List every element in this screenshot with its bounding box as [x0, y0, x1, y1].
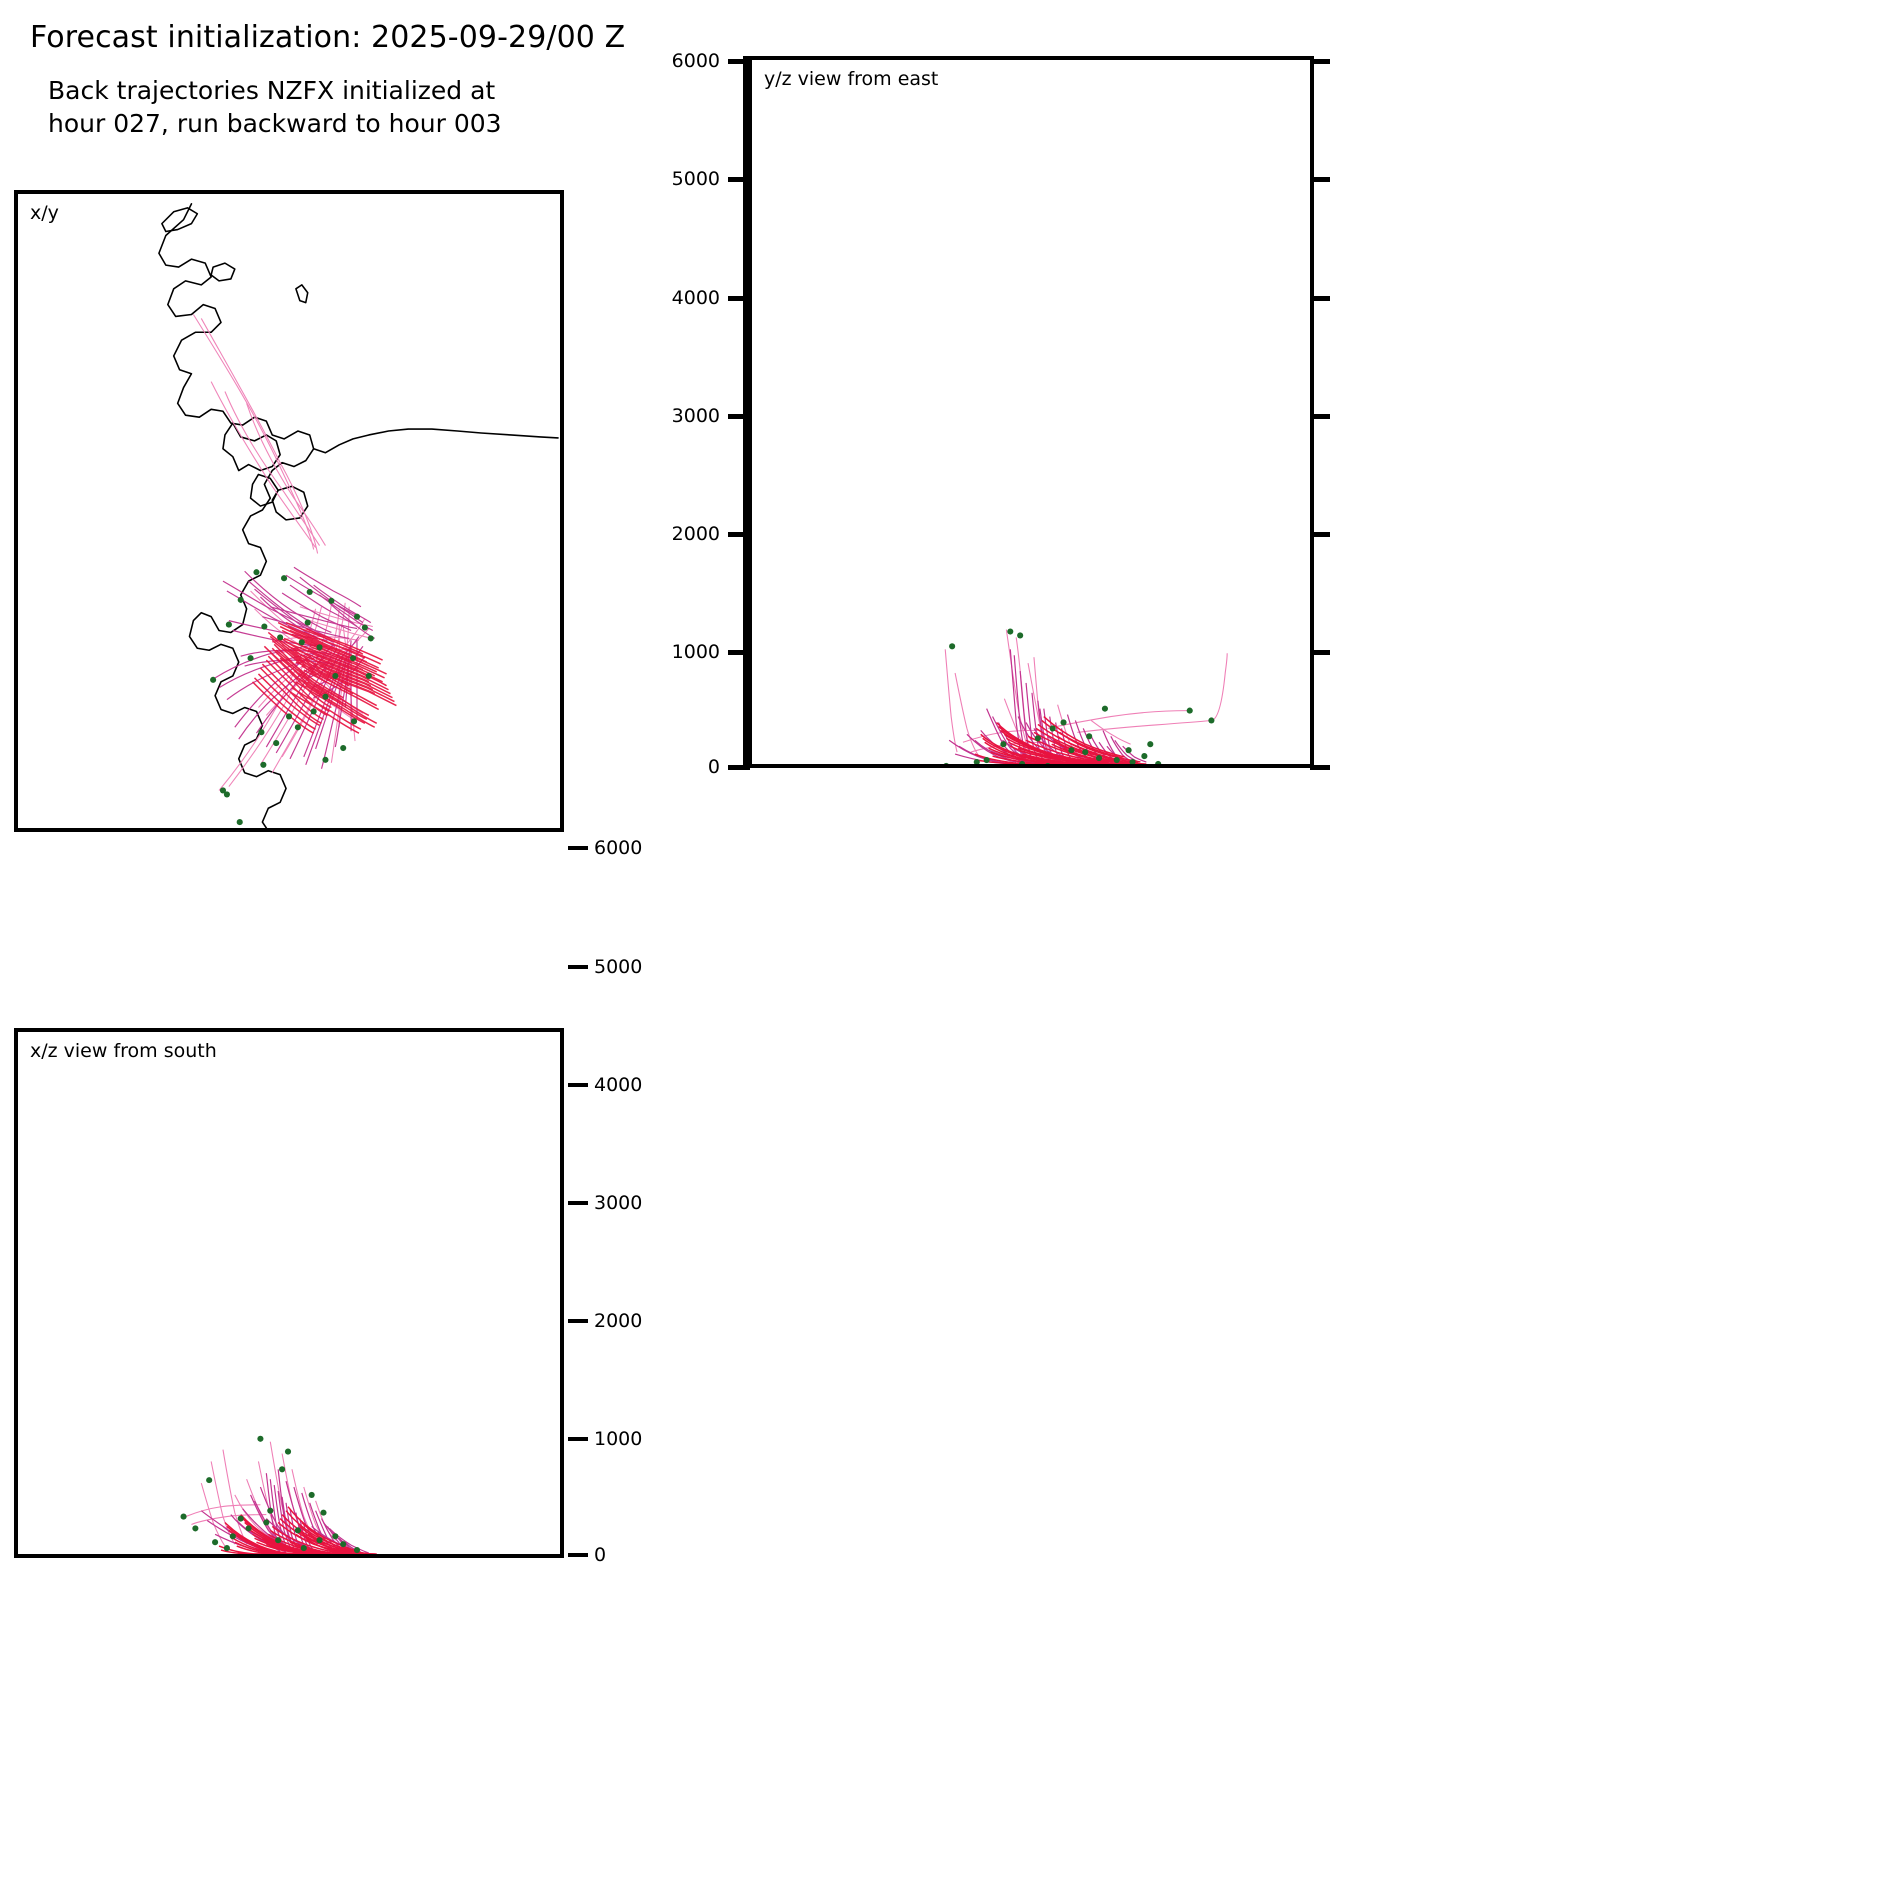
- panel-xz-cross-section: x/z view from south: [14, 1028, 564, 1558]
- xz-tick-4000: [568, 1083, 588, 1087]
- yz-ticklabel-2000: 2000: [620, 523, 720, 545]
- yz-ticklabel-6000: 6000: [620, 50, 720, 72]
- yz-ticklabel-5000: 5000: [620, 168, 720, 190]
- yz-right-tick-0: [1310, 765, 1330, 770]
- xz-ticklabel-3000: 3000: [594, 1192, 642, 1214]
- yz-tick-4000: [728, 296, 750, 301]
- panel-xz-label: x/z view from south: [30, 1040, 217, 1062]
- yz-tick-3000: [728, 414, 750, 419]
- yz-vertical-axis: [743, 56, 773, 768]
- xy-plot-canvas: [18, 194, 560, 828]
- yz-ticklabel-1000: 1000: [620, 641, 720, 663]
- yz-ticklabel-4000: 4000: [620, 287, 720, 309]
- page-subtitle-line2: hour 027, run backward to hour 003: [48, 107, 502, 141]
- yz-axis-spine: [743, 56, 748, 768]
- panel-xy-label: x/y: [30, 202, 59, 224]
- xz-ticklabel-0: 0: [594, 1544, 606, 1566]
- yz-right-tick-1000: [1310, 650, 1330, 655]
- yz-right-tick-4000: [1310, 296, 1330, 301]
- panel-yz-label: y/z view from east: [764, 68, 938, 90]
- coastline-path: [159, 204, 558, 828]
- trajectory-bundle-core: [253, 623, 397, 734]
- yz-tick-2000: [728, 532, 750, 537]
- yz-right-tick-3000: [1310, 414, 1330, 419]
- xz-tick-1000: [568, 1437, 588, 1441]
- yz-tick-6000: [728, 59, 750, 64]
- yz-ticklabel-3000: 3000: [620, 405, 720, 427]
- xz-ticklabel-5000: 5000: [594, 956, 642, 978]
- yz-plot-canvas: [752, 60, 1310, 764]
- xz-ticklabel-6000: 6000: [594, 837, 642, 859]
- yz-right-tick-2000: [1310, 532, 1330, 537]
- xz-ticklabel-2000: 2000: [594, 1310, 642, 1332]
- xz-tick-0: [568, 1553, 588, 1557]
- yz-tick-5000: [728, 177, 750, 182]
- xz-tick-6000: [568, 846, 588, 850]
- panel-xy-map: x/y: [14, 190, 564, 832]
- yz-tick-0: [728, 765, 750, 770]
- xz-ticklabel-4000: 4000: [594, 1074, 642, 1096]
- xz-tick-3000: [568, 1201, 588, 1205]
- page-title: Forecast initialization: 2025-09-29/00 Z: [30, 20, 625, 55]
- yz-tick-1000: [728, 650, 750, 655]
- yz-right-tick-5000: [1310, 177, 1330, 182]
- xz-plot-canvas: [18, 1032, 560, 1554]
- xz-tick-5000: [568, 965, 588, 969]
- panel-yz-cross-section: y/z view from east: [748, 56, 1314, 768]
- yz-ticklabel-0: 0: [620, 756, 720, 778]
- yz-right-tick-6000: [1310, 59, 1330, 64]
- xz-ticklabel-1000: 1000: [594, 1428, 642, 1450]
- page-subtitle-line1: Back trajectories NZFX initialized at: [48, 74, 495, 108]
- xz-tick-2000: [568, 1319, 588, 1323]
